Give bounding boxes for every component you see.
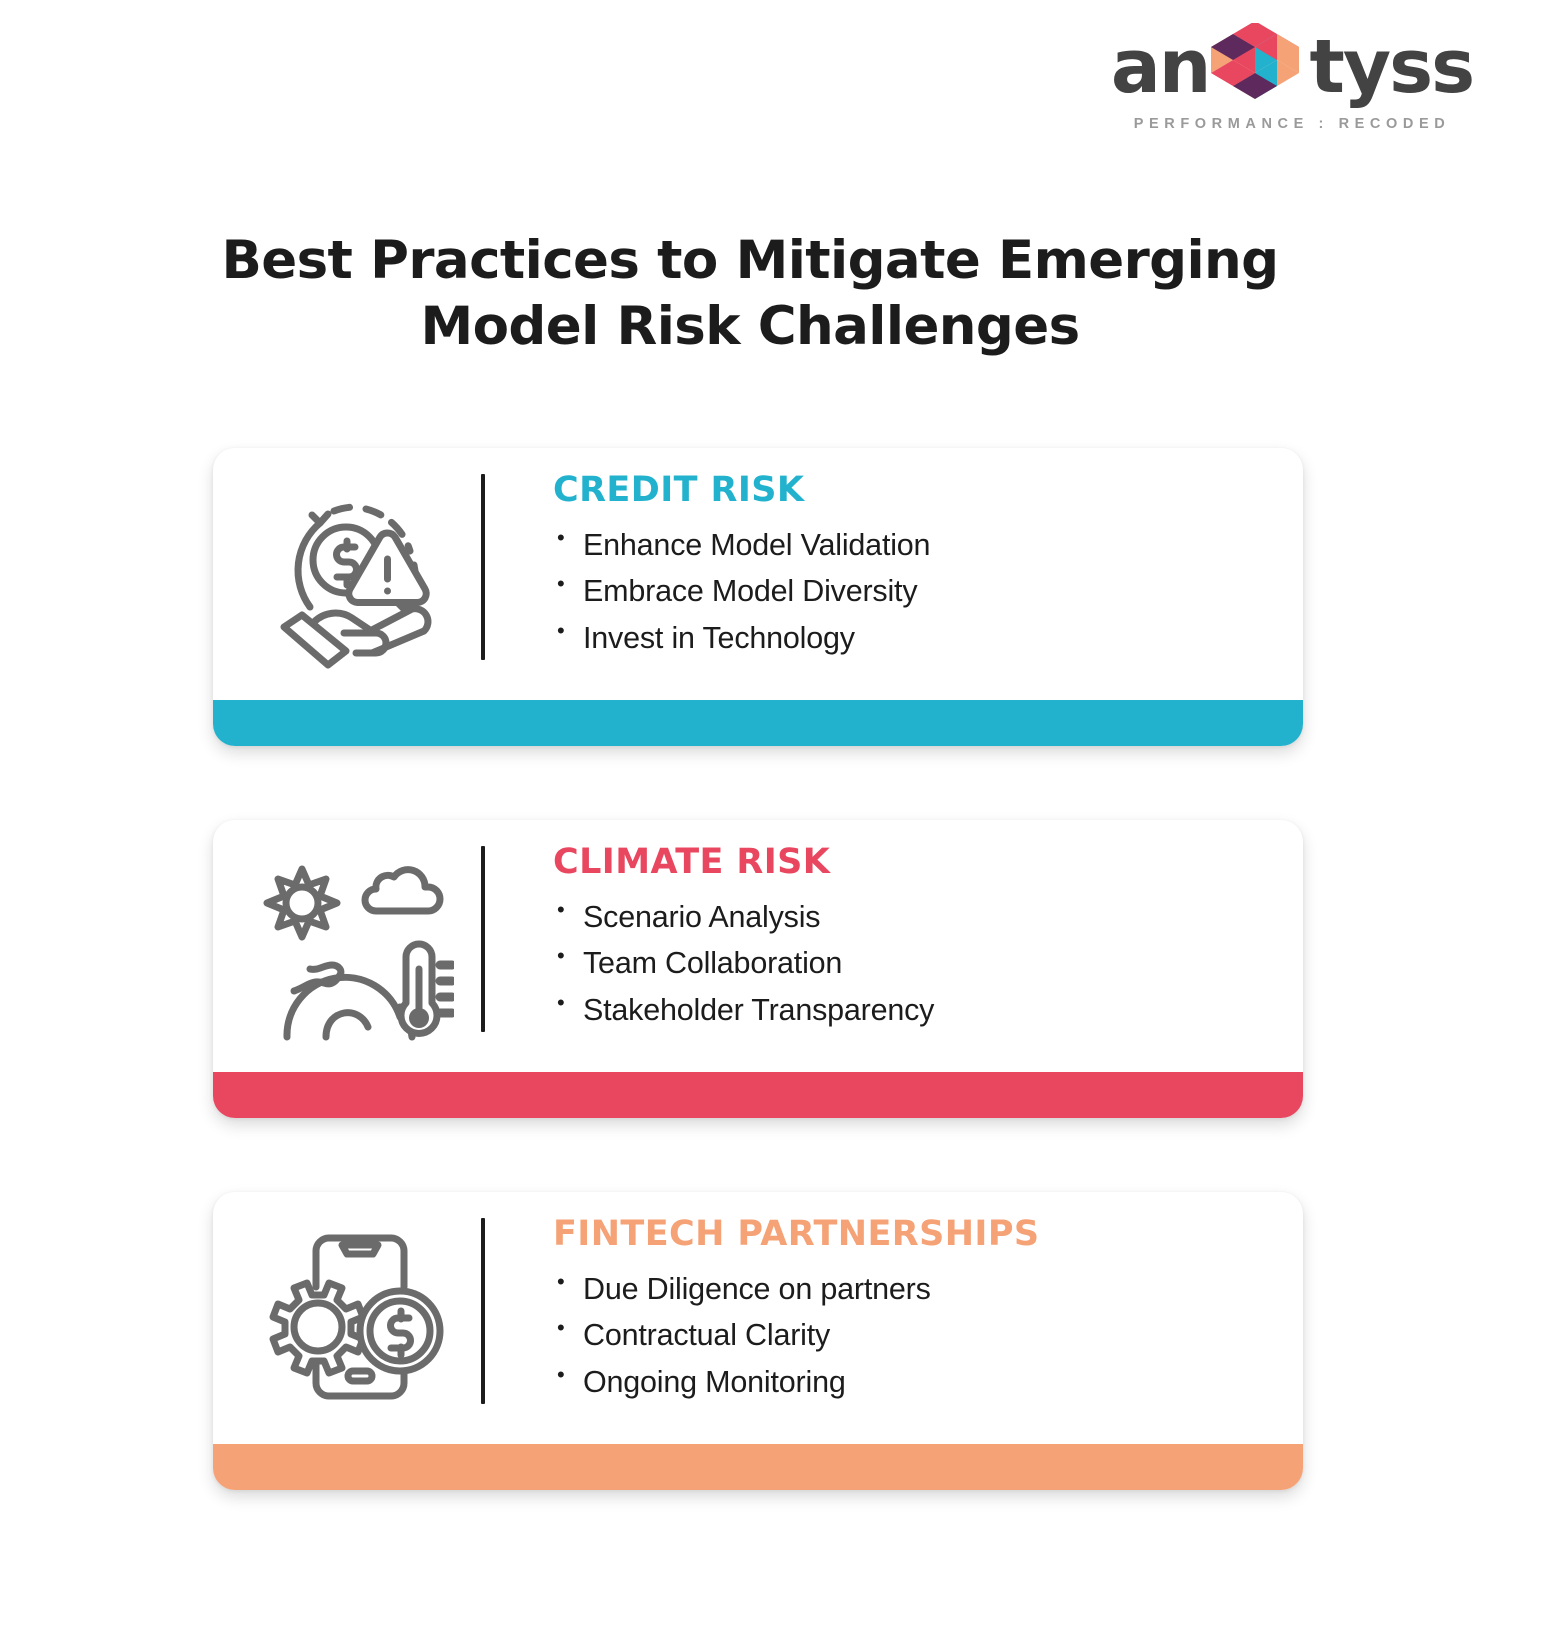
bullet-list-climate-risk: Scenario Analysis Team Collaboration Sta… (553, 894, 1303, 1033)
list-item: Embrace Model Diversity (553, 568, 1303, 614)
hex-cube-logo-icon (1205, 23, 1313, 112)
card-credit-risk: CREDIT RISK Enhance Model Validation Emb… (213, 448, 1303, 746)
card-accent-bar (213, 1072, 1303, 1118)
list-item: Due Diligence on partners (553, 1266, 1303, 1312)
page-title-line1: Best Practices to Mitigate Emerging (221, 230, 1278, 291)
list-item: Team Collaboration (553, 940, 1303, 986)
card-body: FINTECH PARTNERSHIPS Due Diligence on pa… (485, 1192, 1303, 1405)
list-item: Enhance Model Validation (553, 522, 1303, 568)
logo-text-an: an (1111, 30, 1210, 104)
page-title-line2: Model Risk Challenges (420, 296, 1079, 357)
list-item: Stakeholder Transparency (553, 987, 1303, 1033)
card-body: CLIMATE RISK Scenario Analysis Team Coll… (485, 820, 1303, 1033)
page-title: Best Practices to Mitigate Emerging Mode… (0, 228, 1500, 359)
bullet-list-fintech-partnerships: Due Diligence on partners Contractual Cl… (553, 1266, 1303, 1405)
card-accent-bar (213, 700, 1303, 746)
card-heading-credit-risk: CREDIT RISK (553, 470, 1303, 510)
list-item: Scenario Analysis (553, 894, 1303, 940)
list-item: Invest in Technology (553, 615, 1303, 661)
card-list: CREDIT RISK Enhance Model Validation Emb… (213, 448, 1303, 1490)
card-heading-fintech-partnerships: FINTECH PARTNERSHIPS (553, 1214, 1303, 1254)
list-item: Ongoing Monitoring (553, 1359, 1303, 1405)
card-body: CREDIT RISK Enhance Model Validation Emb… (485, 448, 1303, 661)
card-climate-risk: CLIMATE RISK Scenario Analysis Team Coll… (213, 820, 1303, 1118)
bullet-list-credit-risk: Enhance Model Validation Embrace Model D… (553, 522, 1303, 661)
smartphone-gear-coin-icon (213, 1192, 481, 1444)
card-heading-climate-risk: CLIMATE RISK (553, 842, 1303, 882)
brand-logo: an tyss PERFORMANCE : RECODED (1112, 28, 1472, 132)
hand-holding-money-risk-icon (213, 448, 481, 700)
logo-tagline: PERFORMANCE : RECODED (1112, 116, 1472, 132)
list-item: Contractual Clarity (553, 1312, 1303, 1358)
globe-sun-cloud-thermometer-icon (213, 820, 481, 1072)
logo-wordmark: an tyss (1112, 28, 1472, 106)
logo-text-tyss: tyss (1309, 30, 1473, 104)
card-accent-bar (213, 1444, 1303, 1490)
card-fintech-partnerships: FINTECH PARTNERSHIPS Due Diligence on pa… (213, 1192, 1303, 1490)
